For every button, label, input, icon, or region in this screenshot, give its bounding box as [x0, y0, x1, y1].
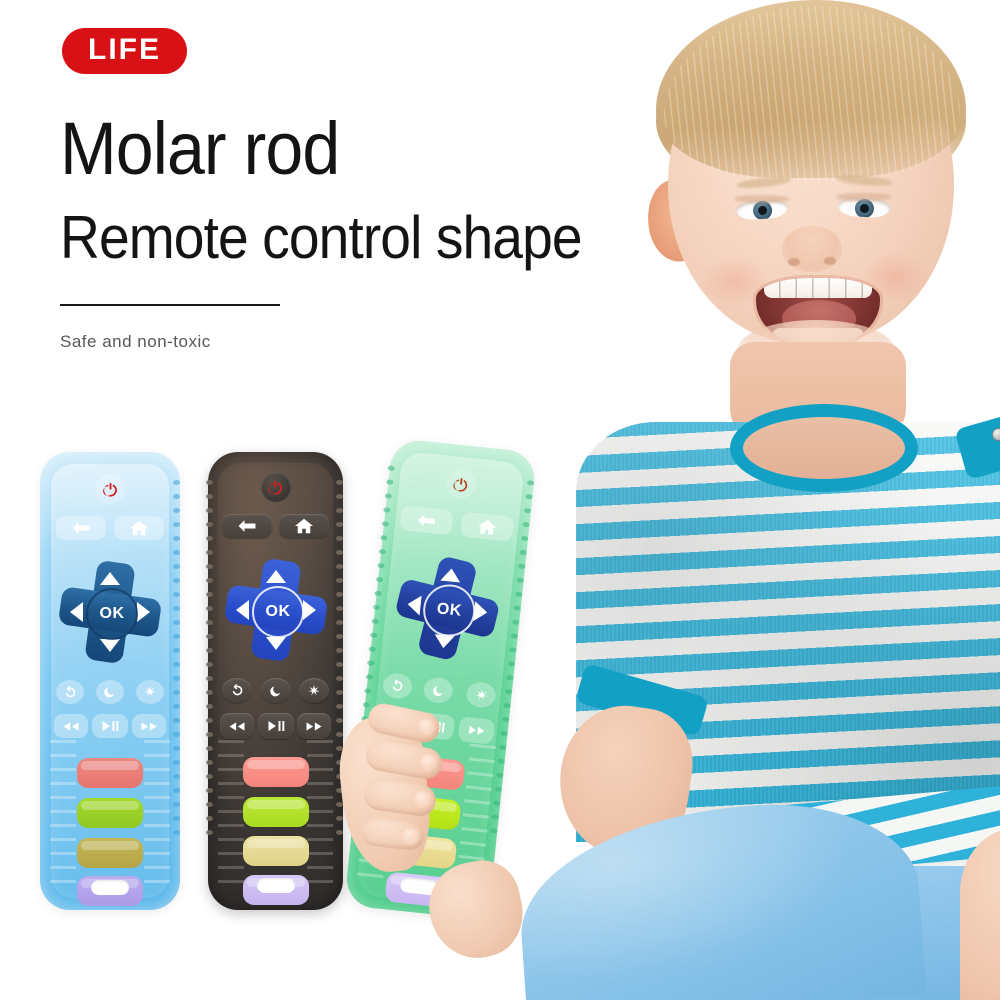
- play-pause-button[interactable]: [92, 714, 128, 738]
- dpad-left-icon[interactable]: [70, 602, 83, 622]
- baby-eyelid-left: [734, 195, 790, 203]
- dpad-down-icon[interactable]: [100, 639, 120, 652]
- dpad[interactable]: OK: [60, 562, 160, 662]
- page-subtitle: Remote control shape: [60, 208, 582, 268]
- fast-forward-button[interactable]: [132, 714, 166, 738]
- baby-eyelid-right: [836, 193, 892, 201]
- baby-photo: [560, 0, 1000, 1000]
- dpad-right-icon[interactable]: [473, 601, 488, 622]
- home-button[interactable]: [114, 516, 164, 540]
- dpad[interactable]: OK: [392, 553, 502, 663]
- baby-nostril-left: [788, 258, 800, 266]
- rewind-button[interactable]: [220, 713, 254, 739]
- moon-button[interactable]: [96, 680, 124, 704]
- color-key-yellow[interactable]: [77, 838, 143, 868]
- fast-forward-button[interactable]: [458, 716, 495, 745]
- dpad-left-icon[interactable]: [236, 600, 249, 620]
- moon-button[interactable]: [261, 678, 291, 703]
- fingernail-2: [418, 753, 438, 773]
- rewind-button[interactable]: [54, 714, 88, 738]
- dpad-up-icon[interactable]: [440, 568, 461, 583]
- power-icon[interactable]: [95, 474, 125, 504]
- color-key-green[interactable]: [243, 797, 309, 827]
- baby-nostril-right: [824, 257, 836, 265]
- color-key-yellow[interactable]: [243, 836, 309, 866]
- ok-button[interactable]: OK: [86, 588, 138, 640]
- tagline: Safe and non-toxic: [60, 332, 211, 352]
- star-button[interactable]: [299, 678, 329, 703]
- iris-left: [752, 200, 772, 220]
- shirt-snap-button: [992, 428, 1000, 441]
- pupil-left: [758, 206, 768, 216]
- dpad[interactable]: OK: [226, 560, 326, 660]
- iris-right: [854, 199, 874, 219]
- power-icon[interactable]: [261, 472, 291, 502]
- baby-teeth-top: [764, 278, 872, 298]
- replay-button[interactable]: [56, 680, 84, 704]
- dpad-right-icon[interactable]: [137, 602, 150, 622]
- fast-forward-button[interactable]: [297, 713, 331, 739]
- back-button[interactable]: [399, 505, 453, 535]
- back-button[interactable]: [56, 516, 106, 540]
- fingernail-3: [413, 790, 432, 809]
- product-banner: LIFE Molar rod Remote control shape Safe…: [0, 0, 1000, 1000]
- dpad-left-icon[interactable]: [407, 594, 422, 615]
- product-dark-remote[interactable]: OK: [208, 452, 343, 910]
- speaker-oval: [91, 880, 129, 895]
- page-title: Molar rod: [60, 112, 339, 186]
- shirt-collar: [730, 404, 918, 492]
- dpad-right-icon[interactable]: [303, 600, 316, 620]
- product-blue-remote[interactable]: OK: [40, 452, 180, 910]
- life-badge: LIFE: [62, 28, 187, 74]
- ok-button[interactable]: OK: [252, 586, 304, 638]
- color-key-coral[interactable]: [77, 758, 143, 788]
- fingernail-4: [401, 827, 420, 846]
- home-button[interactable]: [460, 511, 514, 541]
- replay-button[interactable]: [222, 678, 252, 703]
- fingernail-1: [416, 717, 436, 737]
- color-key-coral[interactable]: [243, 757, 309, 787]
- divider-rule: [60, 304, 280, 306]
- play-pause-button[interactable]: [258, 713, 294, 739]
- pupil-right: [860, 204, 869, 213]
- back-button[interactable]: [222, 514, 272, 538]
- dpad-up-icon[interactable]: [100, 572, 120, 585]
- home-button[interactable]: [279, 514, 329, 538]
- blue-remote-nubs-right: [173, 480, 182, 882]
- dpad-down-icon[interactable]: [266, 637, 286, 650]
- star-button[interactable]: [136, 680, 164, 704]
- dpad-up-icon[interactable]: [266, 570, 286, 583]
- speaker-oval: [257, 878, 295, 893]
- color-key-green[interactable]: [77, 798, 143, 828]
- baby-hand: [342, 690, 462, 890]
